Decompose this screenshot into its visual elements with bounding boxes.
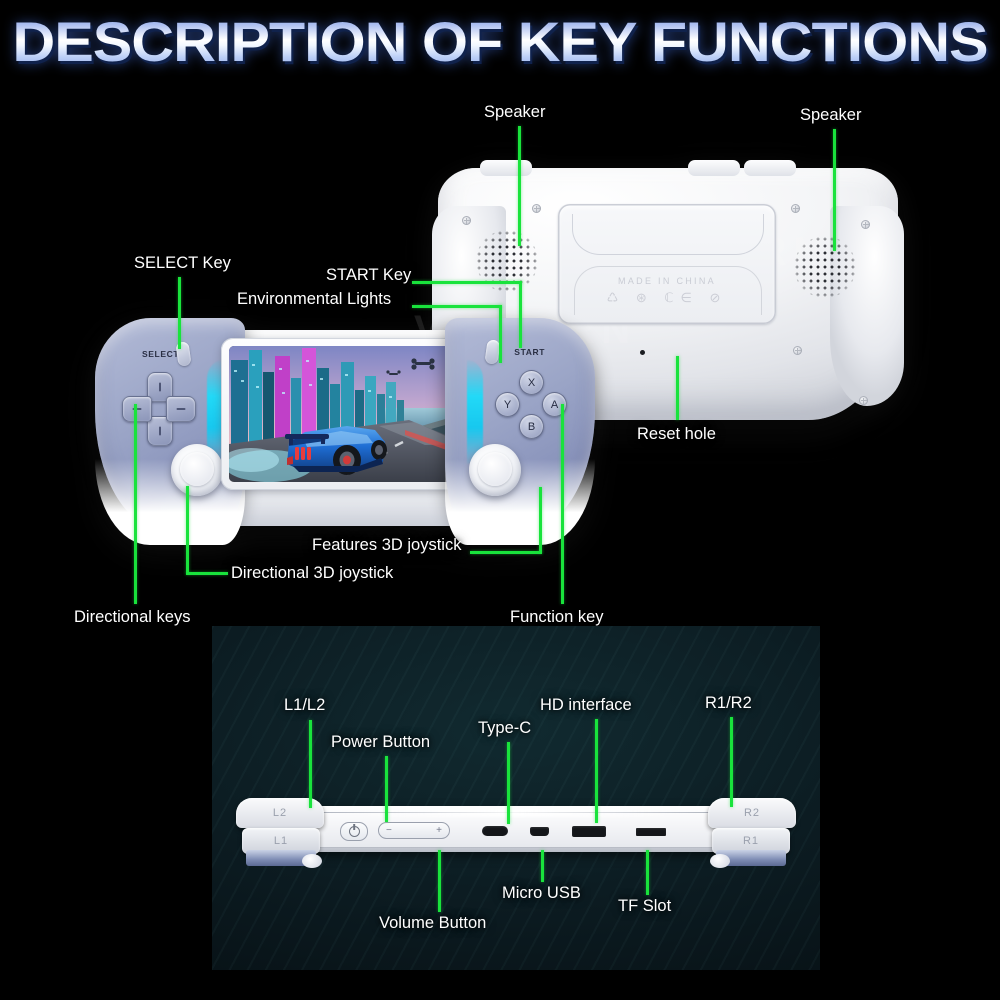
button-y[interactable]: Y [495,392,520,417]
leader-l1-l2 [309,720,312,808]
back-notch-right2 [744,160,796,176]
right-hinge-wheel [710,854,730,868]
right-joystick[interactable] [469,444,521,496]
screw-5 [793,346,802,355]
leader-reset-hole [676,356,679,420]
label-environmental-lights: Environmental Lights [237,290,391,309]
panel-chevron [572,214,764,255]
select-text: SELECT [142,349,179,359]
label-speaker-right: Speaker [800,106,861,125]
leader-micro-usb [541,850,544,882]
leader-select-key [178,277,181,349]
screw-1 [462,216,471,225]
leader-hd-interface [595,719,598,823]
page-title: DESCRIPTION OF KEY FUNCTIONS [0,14,1000,70]
label-power-button: Power Button [331,733,430,752]
leader-r1-r2 [730,717,733,807]
volume-rocker[interactable]: − + [378,822,450,839]
leader-env-lights-v [499,305,502,363]
certification-icons: ♺ ⊛ ℂ∈ ⊘ [558,290,776,306]
power-icon [349,826,360,837]
leader-speaker-left [518,126,521,246]
label-micro-usb: Micro USB [502,884,581,903]
made-in-text: MADE IN CHINA [558,276,776,286]
shoulder-r1-label: R1 [743,835,759,847]
label-reset-hole: Reset hole [637,425,716,444]
shoulder-r2-label: R2 [744,807,760,819]
label-tf-slot: TF Slot [618,897,671,916]
leader-start-key-h [412,281,522,284]
volume-plus-label: + [436,825,442,836]
button-x[interactable]: X [519,370,544,395]
leader-speaker-right [833,129,836,251]
leader-power-button [385,756,388,822]
label-l1-l2: L1/L2 [284,696,325,715]
screw-3 [791,204,800,213]
racing-game-art [229,346,463,482]
screw-2 [532,204,541,213]
label-features-joystick: Features 3D joystick [312,536,461,555]
label-function-key: Function key [510,608,604,627]
edge-highlight [326,808,706,817]
leader-dir-joy-v [186,486,189,574]
dpad-left[interactable] [122,396,152,422]
leader-tf-slot [646,850,649,895]
label-start-key: START Key [326,266,411,285]
screw-4 [861,220,870,229]
micro-usb-port[interactable] [530,827,549,836]
shoulder-l1-label: L1 [274,835,288,847]
back-notch-right [688,160,740,176]
battery-panel: MADE IN CHINA ♺ ⊛ ℂ∈ ⊘ [558,204,776,324]
leader-function-key [561,404,564,604]
label-directional-keys: Directional keys [74,608,190,627]
right-shoulder-group[interactable]: R2 R1 [708,798,796,860]
back-notch-left [480,160,532,176]
screw-6 [859,396,868,405]
label-type-c: Type-C [478,719,531,738]
leader-start-key-v [519,281,522,348]
game-screen [229,346,463,482]
face-button-cluster[interactable]: X Y A B [491,370,569,444]
leader-features-v [539,487,542,553]
power-button-shape[interactable] [340,822,368,841]
start-text: START [514,347,545,357]
volume-minus-label: − [386,825,392,836]
screen-bezel [221,338,471,490]
shoulder-r2[interactable]: R2 [708,798,796,828]
button-b[interactable]: B [519,414,544,439]
reset-hole [640,350,645,355]
label-hd-interface: HD interface [540,696,632,715]
device-front-view: SELECT [95,318,595,543]
leader-volume-button [438,850,441,912]
left-hinge-wheel [302,854,322,868]
back-grip-right [830,206,904,406]
type-c-port[interactable] [482,826,508,836]
infographic-canvas: DESCRIPTION OF KEY FUNCTIONS VILCORN VIL… [0,0,1000,1000]
shoulder-l2-label: L2 [273,807,287,819]
leader-type-c [507,742,510,824]
label-volume-button: Volume Button [379,914,486,933]
edge-view-panel: L2 L1 R2 R1 [212,626,820,970]
left-joystick[interactable] [171,444,223,496]
leader-directional-keys [134,404,137,604]
label-directional-joystick: Directional 3D joystick [231,564,393,583]
dpad-right[interactable] [166,396,196,422]
leader-env-lights-h [412,305,502,308]
label-select-key: SELECT Key [134,254,231,273]
speaker-grille-right [794,236,856,298]
leader-features-h [470,551,542,554]
tf-card-slot[interactable] [636,828,666,836]
device-edge-view: L2 L1 R2 R1 [236,794,796,868]
label-speaker-left: Speaker [484,103,545,122]
hdmi-port[interactable] [572,826,606,837]
label-r1-r2: R1/R2 [705,694,752,713]
leader-dir-joy-h [186,572,228,575]
